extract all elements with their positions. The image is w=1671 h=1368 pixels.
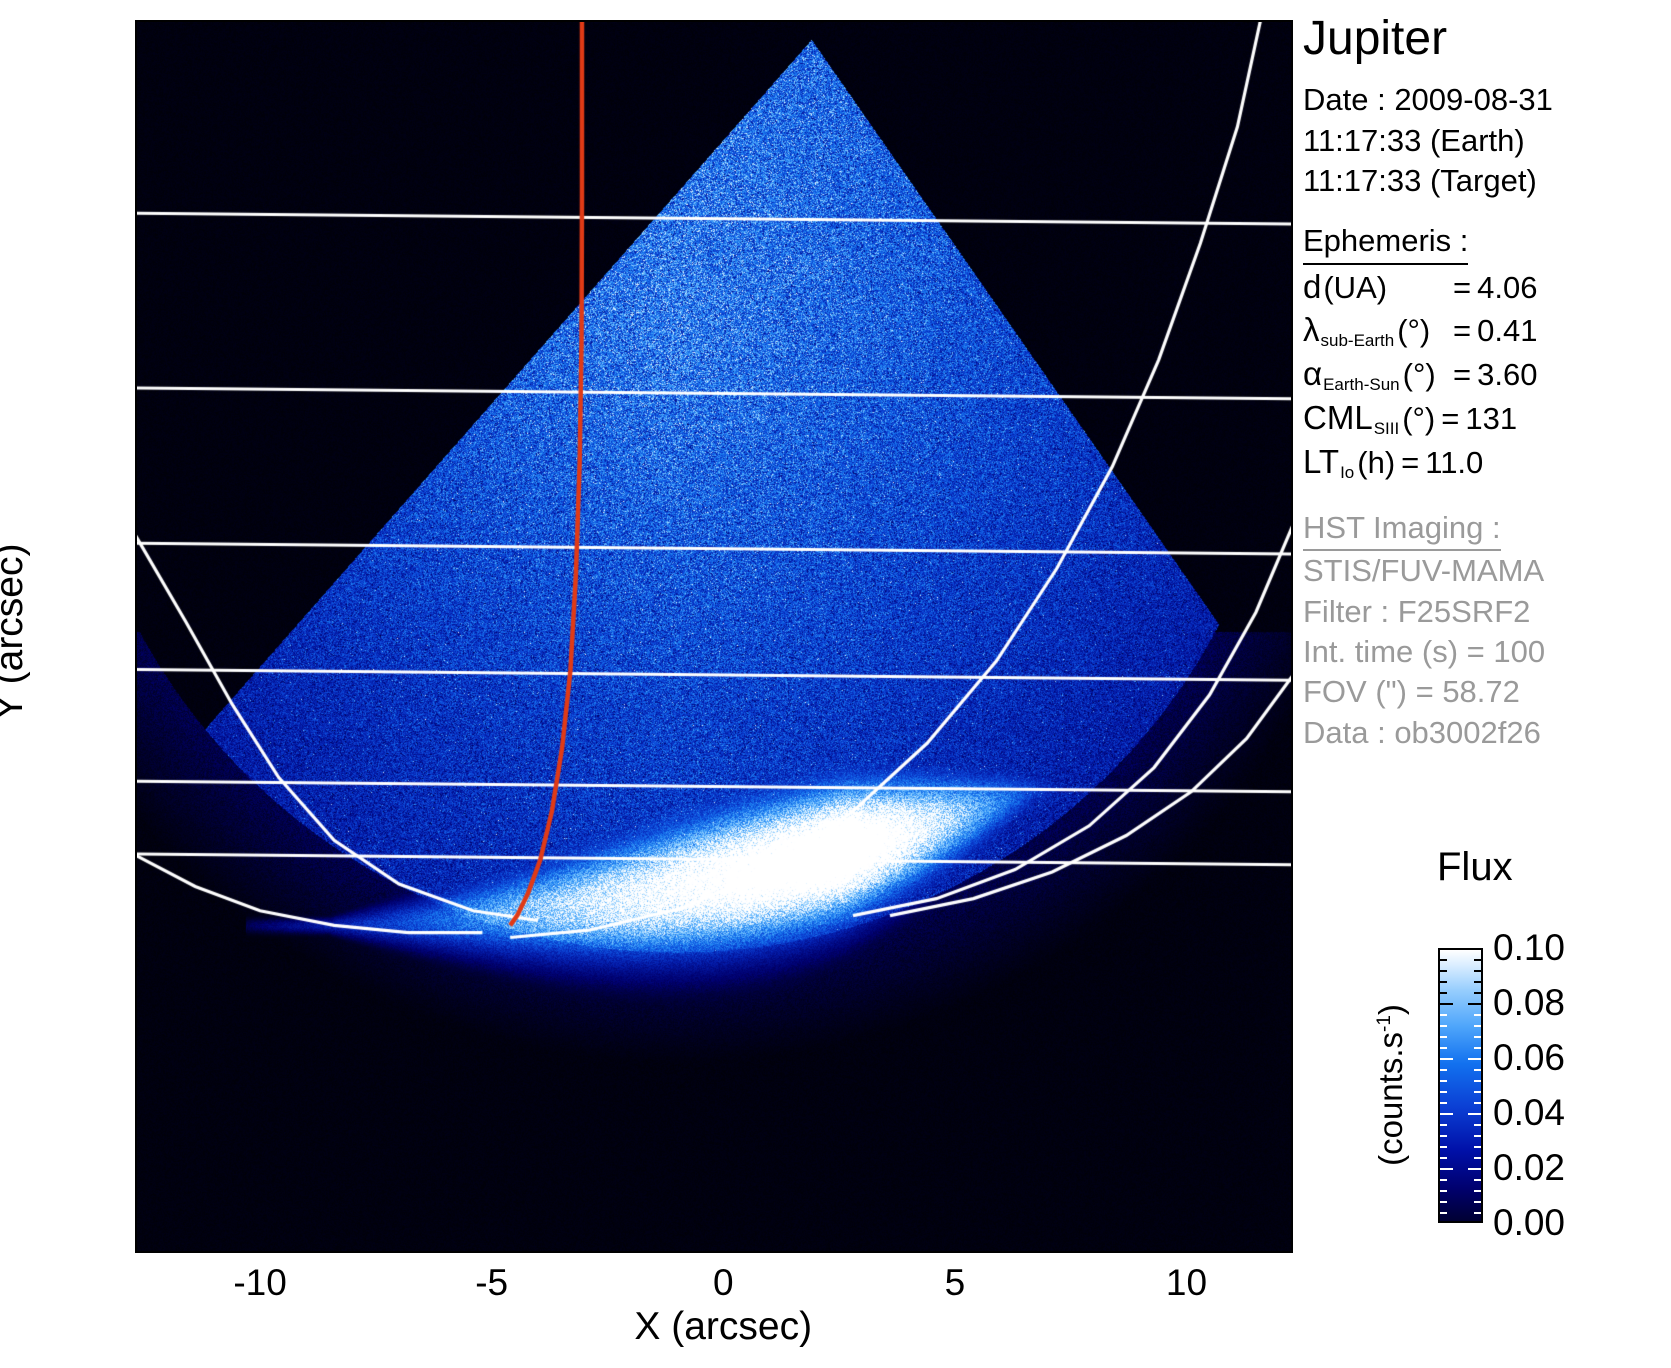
ephemeris-row: CMLSIII(°) = 131 — [1303, 396, 1671, 440]
colorbar-minor-tick — [1440, 1168, 1453, 1170]
colorbar-minor-tick — [1474, 1080, 1481, 1082]
y-axis-label: Y (arcsec) — [0, 543, 32, 720]
hst-instrument: STIS/FUV-MAMA — [1303, 551, 1671, 591]
colorbar-minor-tick — [1468, 1003, 1481, 1005]
ephemeris-unit: (h) — [1355, 445, 1395, 480]
colorbar-minor-tick — [1474, 1025, 1481, 1027]
colorbar-tick-label: 0.10 — [1493, 927, 1565, 969]
ephemeris-value: 0.41 — [1471, 311, 1537, 352]
ephemeris-symbol: CML — [1303, 399, 1373, 436]
info-panel: Jupiter Date : 2009-08-31 11:17:33 (Eart… — [1303, 14, 1671, 753]
ephemeris-heading: Ephemeris : — [1303, 221, 1468, 264]
colorbar-minor-tick — [1440, 1157, 1447, 1159]
colorbar-minor-tick — [1474, 1124, 1481, 1126]
ephemeris-unit: (°) — [1401, 357, 1436, 392]
ephemeris-equals: = — [1453, 355, 1471, 396]
colorbar-minor-tick — [1440, 1047, 1447, 1049]
colorbar-minor-tick — [1440, 1179, 1447, 1181]
colorbar-minor-tick — [1440, 1058, 1453, 1060]
colorbar-minor-tick — [1474, 1179, 1481, 1181]
y-tick-label: 10 — [0, 125, 117, 167]
x-tick-label: -5 — [475, 1262, 508, 1304]
ephemeris-symbol: α — [1303, 355, 1322, 392]
ephemeris-equals: = — [1395, 443, 1419, 484]
colorbar-minor-tick — [1440, 1014, 1447, 1016]
ephemeris-unit: (UA) — [1321, 270, 1387, 305]
ephemeris-equals: = — [1435, 399, 1459, 440]
ephemeris-subscript: SIII — [1373, 419, 1401, 438]
ephemeris-symbol: LT — [1303, 443, 1339, 480]
colorbar-minor-tick — [1474, 1047, 1481, 1049]
ephemeris-row: αEarth-Sun(°) = 3.60 — [1303, 352, 1671, 396]
ephemeris-value: 11.0 — [1419, 443, 1483, 484]
ephemeris-equals: = — [1453, 311, 1471, 352]
colorbar-minor-tick — [1440, 1069, 1447, 1071]
colorbar-minor-tick — [1474, 1135, 1481, 1137]
colorbar-minor-tick — [1474, 992, 1481, 994]
colorbar-tick-label: 0.00 — [1493, 1202, 1565, 1244]
hst-dataset-id: Data : ob3002f26 — [1303, 713, 1671, 753]
y-tick-label: -10 — [0, 1096, 117, 1138]
x-tick-label: 5 — [945, 1262, 966, 1304]
ephemeris-value: 3.60 — [1471, 355, 1537, 396]
colorbar-minor-tick — [1474, 1146, 1481, 1148]
observation-date-block: Date : 2009-08-31 11:17:33 (Earth) 11:17… — [1303, 80, 1671, 201]
colorbar-minor-tick — [1474, 1190, 1481, 1192]
hst-imaging-block: HST Imaging : STIS/FUV-MAMA Filter : F25… — [1303, 508, 1671, 753]
colorbar-minor-tick — [1468, 1058, 1481, 1060]
x-tick-label: 10 — [1166, 1262, 1207, 1304]
ephemeris-value: 131 — [1459, 399, 1517, 440]
colorbar-minor-tick — [1440, 1003, 1453, 1005]
x-tick-label: 0 — [713, 1262, 734, 1304]
colorbar-minor-tick — [1440, 1201, 1447, 1203]
colorbar-title: Flux — [1437, 845, 1513, 890]
hst-fov: FOV (") = 58.72 — [1303, 672, 1671, 712]
colorbar-minor-tick — [1474, 1069, 1481, 1071]
colorbar-minor-tick — [1440, 1025, 1447, 1027]
colorbar-minor-tick — [1474, 1091, 1481, 1093]
x-axis-label: X (arcsec) — [634, 1305, 812, 1349]
colorbar-minor-tick — [1440, 1102, 1447, 1104]
ephemeris-unit: (°) — [1400, 401, 1435, 436]
ephemeris-block: Ephemeris : d(UA) = 4.06 λsub-Earth(°) =… — [1303, 221, 1671, 484]
colorbar-tick-label: 0.04 — [1493, 1092, 1565, 1134]
ephemeris-equals: = — [1453, 268, 1471, 309]
colorbar-minor-tick — [1440, 1212, 1447, 1214]
figure-root: 10 5 0 -5 -10 Y (arcsec) -10 -5 0 5 10 X… — [0, 0, 1671, 1368]
observation-time-target: 11:17:33 (Target) — [1303, 161, 1671, 201]
colorbar-unit-label: (counts.s-1) — [1372, 1004, 1410, 1166]
y-tick-label: -5 — [0, 853, 117, 895]
colorbar-minor-tick — [1474, 970, 1481, 972]
ephemeris-subscript: Io — [1339, 463, 1355, 482]
colorbar-minor-tick — [1474, 1102, 1481, 1104]
colorbar-minor-tick — [1440, 1124, 1447, 1126]
y-tick-label: 5 — [0, 368, 117, 410]
colorbar-minor-tick — [1474, 981, 1481, 983]
ephemeris-unit: (°) — [1395, 313, 1430, 348]
colorbar-tick-label: 0.02 — [1493, 1147, 1565, 1189]
colorbar-minor-tick — [1440, 970, 1447, 972]
jupiter-fuv-image — [137, 22, 1291, 1251]
colorbar-minor-tick — [1474, 959, 1481, 961]
colorbar-minor-tick — [1440, 1036, 1447, 1038]
colorbar-gradient — [1438, 948, 1483, 1223]
colorbar-minor-tick — [1474, 1201, 1481, 1203]
ephemeris-value: 4.06 — [1471, 268, 1537, 309]
colorbar-minor-tick — [1474, 1036, 1481, 1038]
ephemeris-row: d(UA) = 4.06 — [1303, 265, 1671, 309]
hst-integration-time: Int. time (s) = 100 — [1303, 632, 1671, 672]
colorbar-minor-tick — [1440, 1135, 1447, 1137]
observation-time-earth: 11:17:33 (Earth) — [1303, 121, 1671, 161]
colorbar-minor-tick — [1440, 1080, 1447, 1082]
hst-imaging-heading: HST Imaging : — [1303, 508, 1501, 551]
image-plot-area — [135, 20, 1293, 1253]
ephemeris-row: LTIo(h) = 11.0 — [1303, 440, 1671, 484]
page-title: Jupiter — [1303, 14, 1671, 64]
ephemeris-subscript: sub-Earth — [1320, 331, 1396, 350]
colorbar-tick-label: 0.08 — [1493, 982, 1565, 1024]
colorbar-minor-tick — [1468, 1168, 1481, 1170]
colorbar-minor-tick — [1440, 981, 1447, 983]
colorbar-minor-tick — [1474, 1212, 1481, 1214]
observation-date: Date : 2009-08-31 — [1303, 80, 1671, 120]
colorbar-minor-tick — [1474, 1014, 1481, 1016]
colorbar-minor-tick — [1440, 1113, 1453, 1115]
colorbar-minor-tick — [1474, 1157, 1481, 1159]
colorbar-minor-tick — [1440, 959, 1447, 961]
colorbar-minor-tick — [1440, 1190, 1447, 1192]
colorbar-minor-tick — [1440, 992, 1447, 994]
colorbar-group: Flux (counts.s-1) 0.10 0.08 0.06 0.04 0.… — [1303, 845, 1671, 1185]
ephemeris-symbol: d — [1303, 268, 1321, 305]
hst-filter: Filter : F25SRF2 — [1303, 592, 1671, 632]
x-tick-label: -10 — [233, 1262, 286, 1304]
ephemeris-symbol: λ — [1303, 311, 1320, 348]
ephemeris-row: λsub-Earth(°) = 0.41 — [1303, 308, 1671, 352]
colorbar-minor-tick — [1440, 1091, 1447, 1093]
colorbar-minor-tick — [1468, 1113, 1481, 1115]
colorbar-tick-label: 0.06 — [1493, 1037, 1565, 1079]
ephemeris-subscript: Earth-Sun — [1322, 375, 1401, 394]
colorbar-minor-tick — [1440, 1146, 1447, 1148]
